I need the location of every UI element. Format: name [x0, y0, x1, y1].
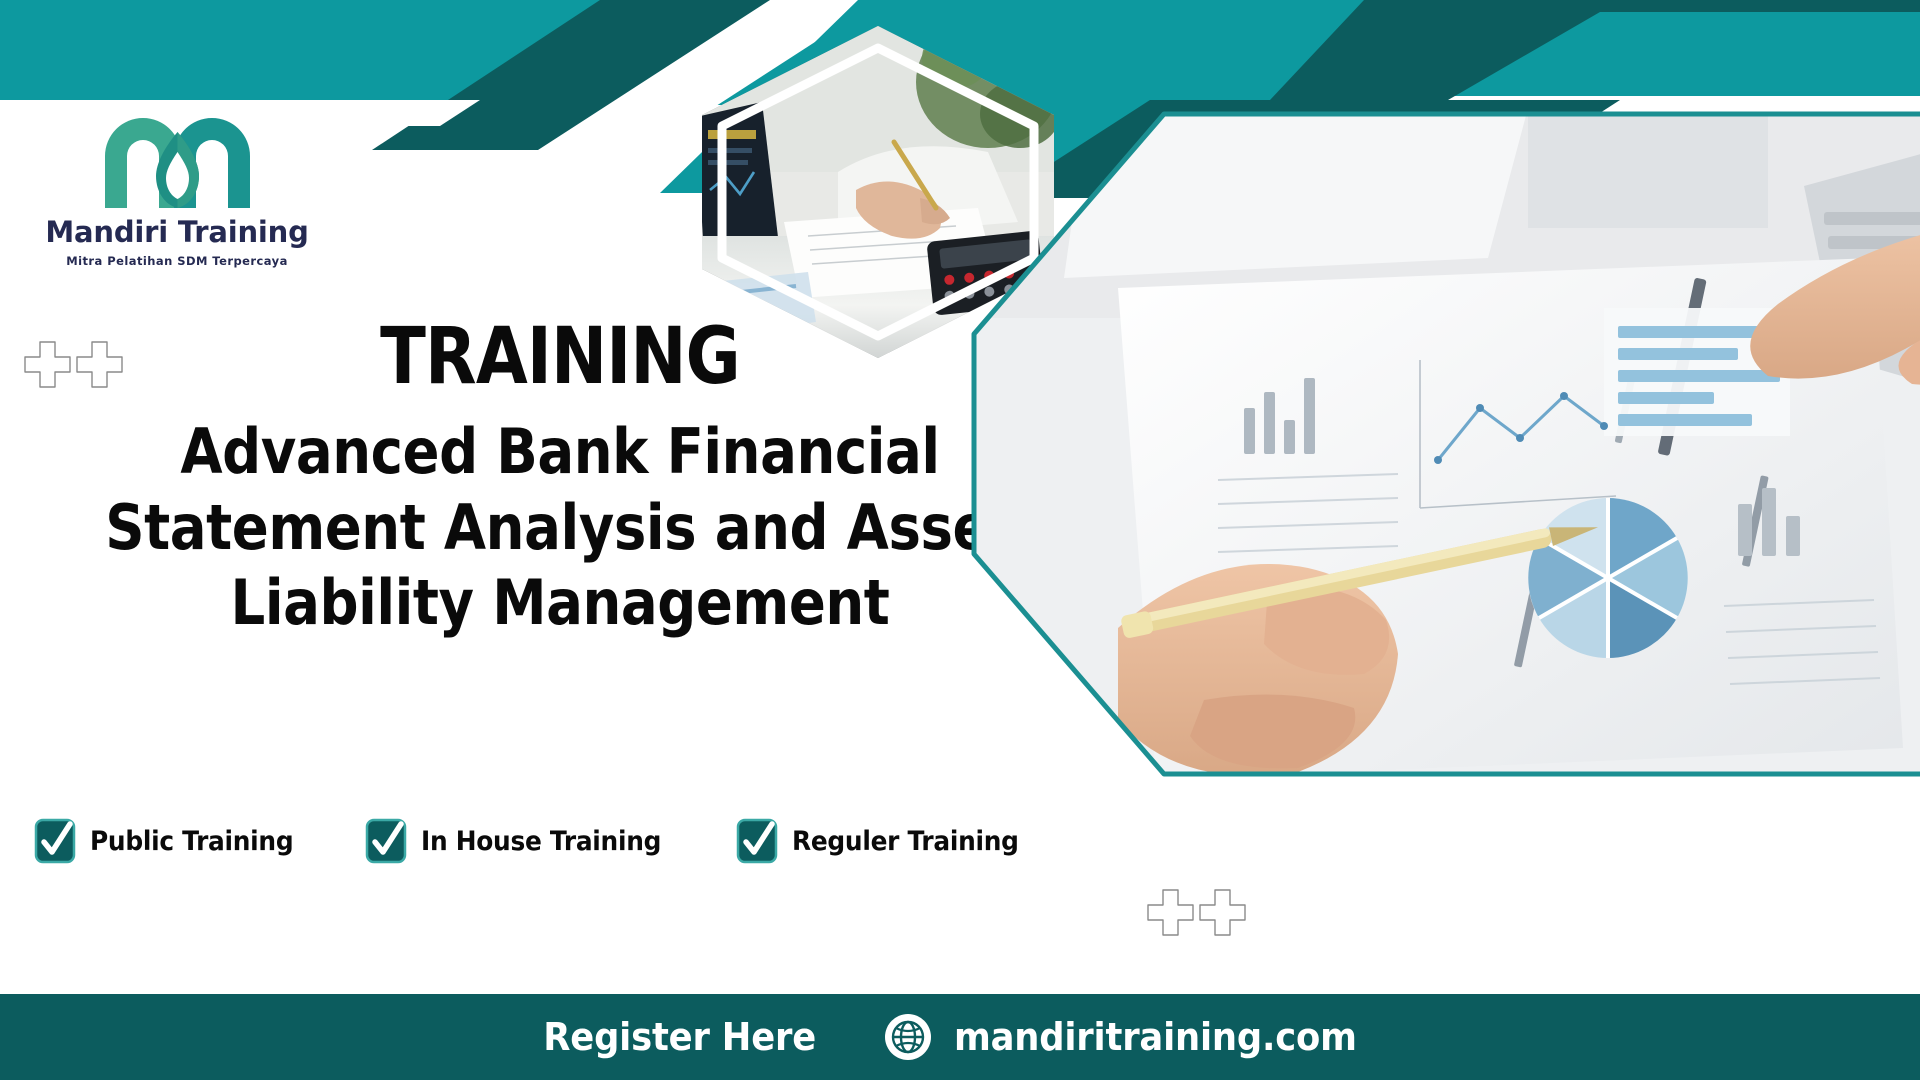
globe-icon	[884, 1013, 932, 1061]
badge-in-house-training: In House Training	[365, 818, 682, 864]
brand-logo: Mandiri Training Mitra Pelatihan SDM Ter…	[42, 108, 312, 268]
hero-text-block: TRAINING Advanced Bank Financial Stateme…	[0, 318, 1120, 641]
mandiri-m-monogram-icon	[95, 108, 260, 213]
decoration-crosses-right	[1145, 888, 1255, 940]
double-cross-outline-icon	[1145, 888, 1255, 940]
headline-line-1: Advanced Bank Financial	[67, 414, 1053, 490]
checkbox-checked-icon	[34, 818, 76, 864]
headline-line-3: Liability Management	[67, 565, 1053, 641]
footer-bar: Register Here mandiritraining.com	[0, 994, 1920, 1080]
hexagon-photo-finance-report-review	[968, 108, 1920, 780]
brand-tagline: Mitra Pelatihan SDM Terpercaya	[42, 254, 312, 268]
badge-label: In House Training	[421, 826, 661, 857]
badge-reguler-training: Reguler Training	[736, 818, 1038, 864]
training-type-badges: Public Training In House Training Regule…	[34, 818, 1038, 864]
badge-label: Public Training	[90, 826, 293, 857]
brand-name: Mandiri Training	[42, 217, 312, 247]
register-here-label[interactable]: Register Here	[543, 1015, 816, 1059]
checkbox-checked-icon	[736, 818, 778, 864]
hero-headline: Advanced Bank Financial Statement Analys…	[67, 414, 1053, 641]
headline-line-2: Statement Analysis and Asset	[67, 490, 1053, 566]
badge-label: Reguler Training	[792, 826, 1019, 857]
website-url[interactable]: mandiritraining.com	[954, 1015, 1357, 1059]
training-promo-poster: Mandiri Training Mitra Pelatihan SDM Ter…	[0, 0, 1920, 1080]
badge-public-training: Public Training	[34, 818, 311, 864]
checkbox-checked-icon	[365, 818, 407, 864]
website-block[interactable]: mandiritraining.com	[884, 1013, 1387, 1061]
